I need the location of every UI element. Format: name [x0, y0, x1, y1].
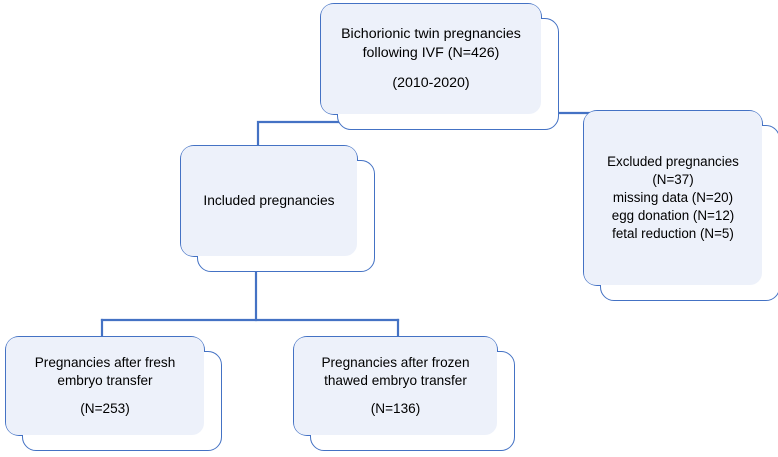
node-text: Excluded pregnancies (N=37) missing data… — [584, 111, 762, 285]
node-text-line: Pregnancies after fresh — [35, 354, 176, 372]
node-text-line: embryo transfer — [57, 372, 152, 390]
node-card: Included pregnancies — [197, 160, 375, 272]
node-text-line: thawed embryo transfer — [324, 372, 467, 390]
node-text-line: (N=37) — [652, 171, 693, 189]
node-text-line: (N=136) — [371, 400, 421, 418]
node-card: Pregnancies after frozen thawed embryo t… — [310, 351, 515, 451]
flowchart-canvas: Bichorionic twin pregnancies following I… — [0, 0, 778, 457]
node-text: Pregnancies after fresh embryo transfer … — [6, 337, 204, 435]
node-text-line: Pregnancies after frozen — [321, 354, 469, 372]
node-card: Excluded pregnancies (N=37) missing data… — [600, 125, 778, 301]
node-card: Pregnancies after fresh embryo transfer … — [22, 351, 222, 451]
node-text-line: Excluded pregnancies — [607, 153, 739, 171]
node-text-line: following IVF (N=426) — [363, 44, 500, 63]
node-card: Bichorionic twin pregnancies following I… — [337, 18, 559, 130]
node-included-pregnancies: Included pregnancies — [180, 145, 358, 257]
node-text: Included pregnancies — [181, 146, 357, 256]
node-bichorionic-twin-pregnancies: Bichorionic twin pregnancies following I… — [320, 3, 542, 115]
node-excluded-pregnancies: Excluded pregnancies (N=37) missing data… — [583, 110, 763, 286]
node-text-line: egg donation (N=12) — [612, 207, 734, 225]
node-text: Pregnancies after frozen thawed embryo t… — [294, 337, 497, 435]
node-text: Bichorionic twin pregnancies following I… — [321, 4, 541, 114]
node-text-line: Included pregnancies — [203, 192, 334, 210]
node-frozen-thawed-embryo-transfer: Pregnancies after frozen thawed embryo t… — [293, 336, 498, 436]
node-text-line: fetal reduction (N=5) — [612, 225, 734, 243]
node-fresh-embryo-transfer: Pregnancies after fresh embryo transfer … — [5, 336, 205, 436]
node-text-line: missing data (N=20) — [613, 189, 733, 207]
node-text-line: (N=253) — [80, 400, 130, 418]
node-text-line: Bichorionic twin pregnancies — [341, 25, 521, 44]
node-text-line: (2010-2020) — [392, 74, 469, 93]
